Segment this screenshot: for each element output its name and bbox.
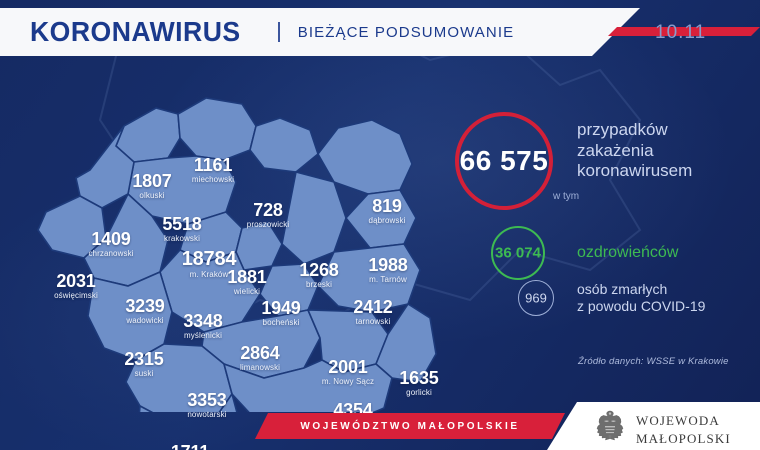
recovered-label: ozdrowieńców [577,244,678,262]
cases-text-block: przypadkówzakażeniakoronawirusem w tym [553,120,692,202]
header-banner: KORONAWIRUS BIEŻĄCE PODSUMOWANIE [0,8,640,56]
malopolska-map: 1161 miechowski 1807 olkuski 728 proszow… [28,72,448,412]
header-subtitle: BIEŻĄCE PODSUMOWANIE [298,24,514,41]
header: KORONAWIRUS BIEŻĄCE PODSUMOWANIE 10.11 [0,0,760,64]
deaths-label: osób zmarłychz powodu COVID-19 [577,281,705,316]
footer: WOJEWÓDZTWO MAŁOPOLSKIE WOJEWODAMAŁOPOLS… [0,402,760,450]
polish-eagle-emblem-icon [590,409,630,445]
cases-label: przypadkówzakażeniakoronawirusem [577,120,692,182]
cases-value: 66 575 [460,145,549,177]
statistics-panel: 66 575 przypadkówzakażeniakoronawirusem … [455,100,755,360]
recovered-circle-icon: 36 074 [491,226,545,280]
deaths-circle-icon: 969 [518,280,554,316]
title-divider-icon [278,22,280,42]
stat-cases: 66 575 przypadkówzakażeniakoronawirusem … [455,112,692,210]
footer-region-banner: WOJEWÓDZTWO MAŁOPOLSKIE [255,413,565,439]
page-title: KORONAWIRUS [30,18,241,46]
cases-sublabel: w tym [553,191,692,202]
header-date: 10.11 [655,22,706,44]
map-districts [38,98,436,412]
footer-brand-label: WOJEWODAMAŁOPOLSKI [636,412,744,447]
source-note: Źródło danych: WSSE w Krakowie [578,356,729,367]
deaths-value: 969 [525,291,547,306]
cases-circle-icon: 66 575 [455,112,553,210]
recovered-value: 36 074 [495,245,541,262]
stat-recovered: 36 074 ozdrowieńców [491,226,678,280]
stat-deaths: 969 osób zmarłychz powodu COVID-19 [518,280,705,316]
footer-region-label: WOJEWÓDZTWO MAŁOPOLSKIE [300,421,519,432]
